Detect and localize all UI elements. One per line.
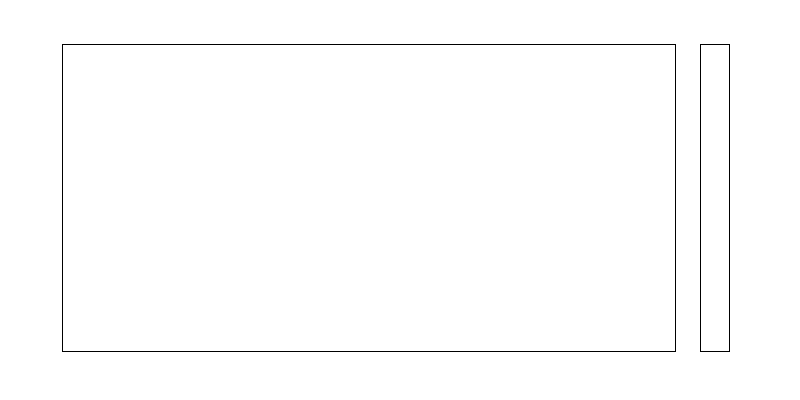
colorbar-gradient bbox=[700, 44, 730, 352]
plot-area[interactable] bbox=[62, 44, 676, 352]
scatter-data-layer bbox=[63, 45, 676, 352]
colorbar[interactable] bbox=[700, 44, 730, 352]
spectrogram-figure bbox=[0, 0, 800, 400]
